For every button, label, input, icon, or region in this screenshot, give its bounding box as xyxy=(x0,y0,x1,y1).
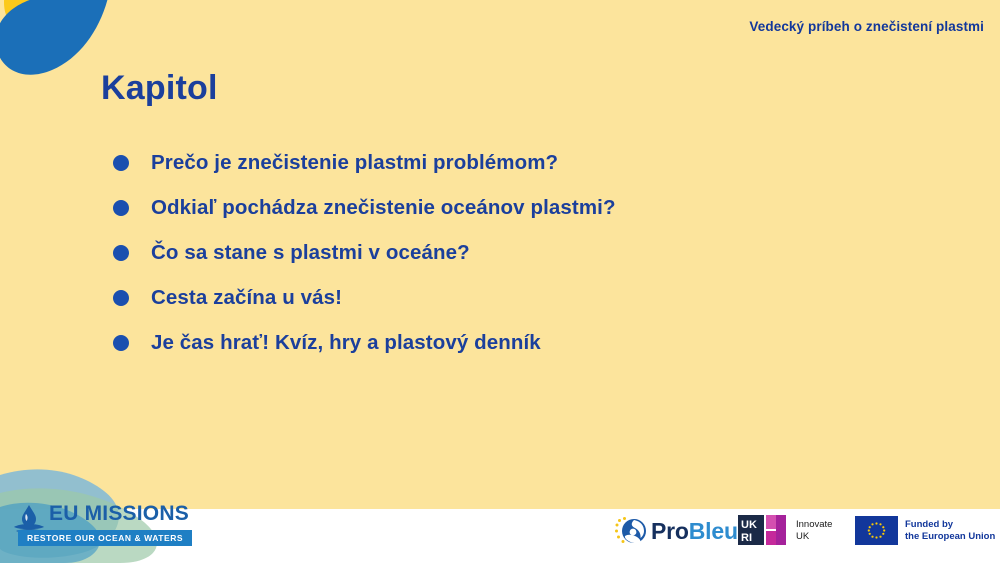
list-item-label: Cesta začína u vás! xyxy=(151,286,342,310)
svg-text:RI: RI xyxy=(741,532,752,544)
list-item[interactable]: Odkiaľ pochádza znečistenie oceánov plas… xyxy=(113,185,873,230)
innovate-uk-line2: UK xyxy=(796,531,832,543)
ukri-innovate-uk-logo: UK RI Innovate UK xyxy=(738,515,843,547)
bullet-dot-icon xyxy=(113,335,129,351)
bullet-dot-icon xyxy=(113,200,129,216)
probleu-name-second: Bleu xyxy=(689,518,738,544)
page-title: Kapitol xyxy=(101,69,218,108)
probleu-name-first: Pro xyxy=(651,518,689,544)
probleu-wordmark: ProBleu xyxy=(651,518,738,545)
european-union-flag-icon xyxy=(855,516,898,545)
eu-missions-logo: EU MISSIONS RESTORE OUR OCEAN & WATERS xyxy=(8,500,188,552)
eu-funded-logo: Funded by the European Union xyxy=(855,516,990,546)
svg-text:UK: UK xyxy=(741,519,757,531)
eu-missions-wordmark-bold: EU xyxy=(49,502,79,525)
list-item-label: Je čas hrať! Kvíz, hry a plastový denník xyxy=(151,331,541,355)
eu-funded-text: Funded by the European Union xyxy=(905,519,995,542)
ukri-mark-icon: UK RI xyxy=(738,515,790,545)
probleu-logo: ProBleu xyxy=(613,514,728,550)
list-item[interactable]: Je čas hrať! Kvíz, hry a plastový denník xyxy=(113,320,873,365)
chapter-list: Prečo je znečistenie plastmi problémom? … xyxy=(113,140,873,365)
innovate-uk-line1: Innovate xyxy=(796,519,832,531)
probleu-swirl-icon xyxy=(613,516,649,548)
header-title: Vedecký príbeh o znečistení plastmi xyxy=(749,19,984,34)
innovate-uk-text: Innovate UK xyxy=(796,519,832,542)
list-item-label: Čo sa stane s plastmi v oceáne? xyxy=(151,241,470,265)
bullet-dot-icon xyxy=(113,245,129,261)
eu-missions-tagline: RESTORE OUR OCEAN & WATERS xyxy=(18,530,192,546)
bullet-dot-icon xyxy=(113,290,129,306)
list-item-label: Odkiaľ pochádza znečistenie oceánov plas… xyxy=(151,196,616,220)
list-item-label: Prečo je znečistenie plastmi problémom? xyxy=(151,151,558,175)
eu-funded-line1: Funded by xyxy=(905,519,995,531)
list-item[interactable]: Čo sa stane s plastmi v oceáne? xyxy=(113,230,873,275)
eu-funded-line2: the European Union xyxy=(905,531,995,543)
list-item[interactable]: Prečo je znečistenie plastmi problémom? xyxy=(113,140,873,185)
bullet-dot-icon xyxy=(113,155,129,171)
eu-missions-wordmark: EU MISSIONS xyxy=(49,502,189,526)
eu-missions-wordmark-rest: MISSIONS xyxy=(79,502,189,525)
slide-canvas: Vedecký príbeh o znečistení plastmi Kapi… xyxy=(0,0,1000,563)
list-item[interactable]: Cesta začína u vás! xyxy=(113,275,873,320)
